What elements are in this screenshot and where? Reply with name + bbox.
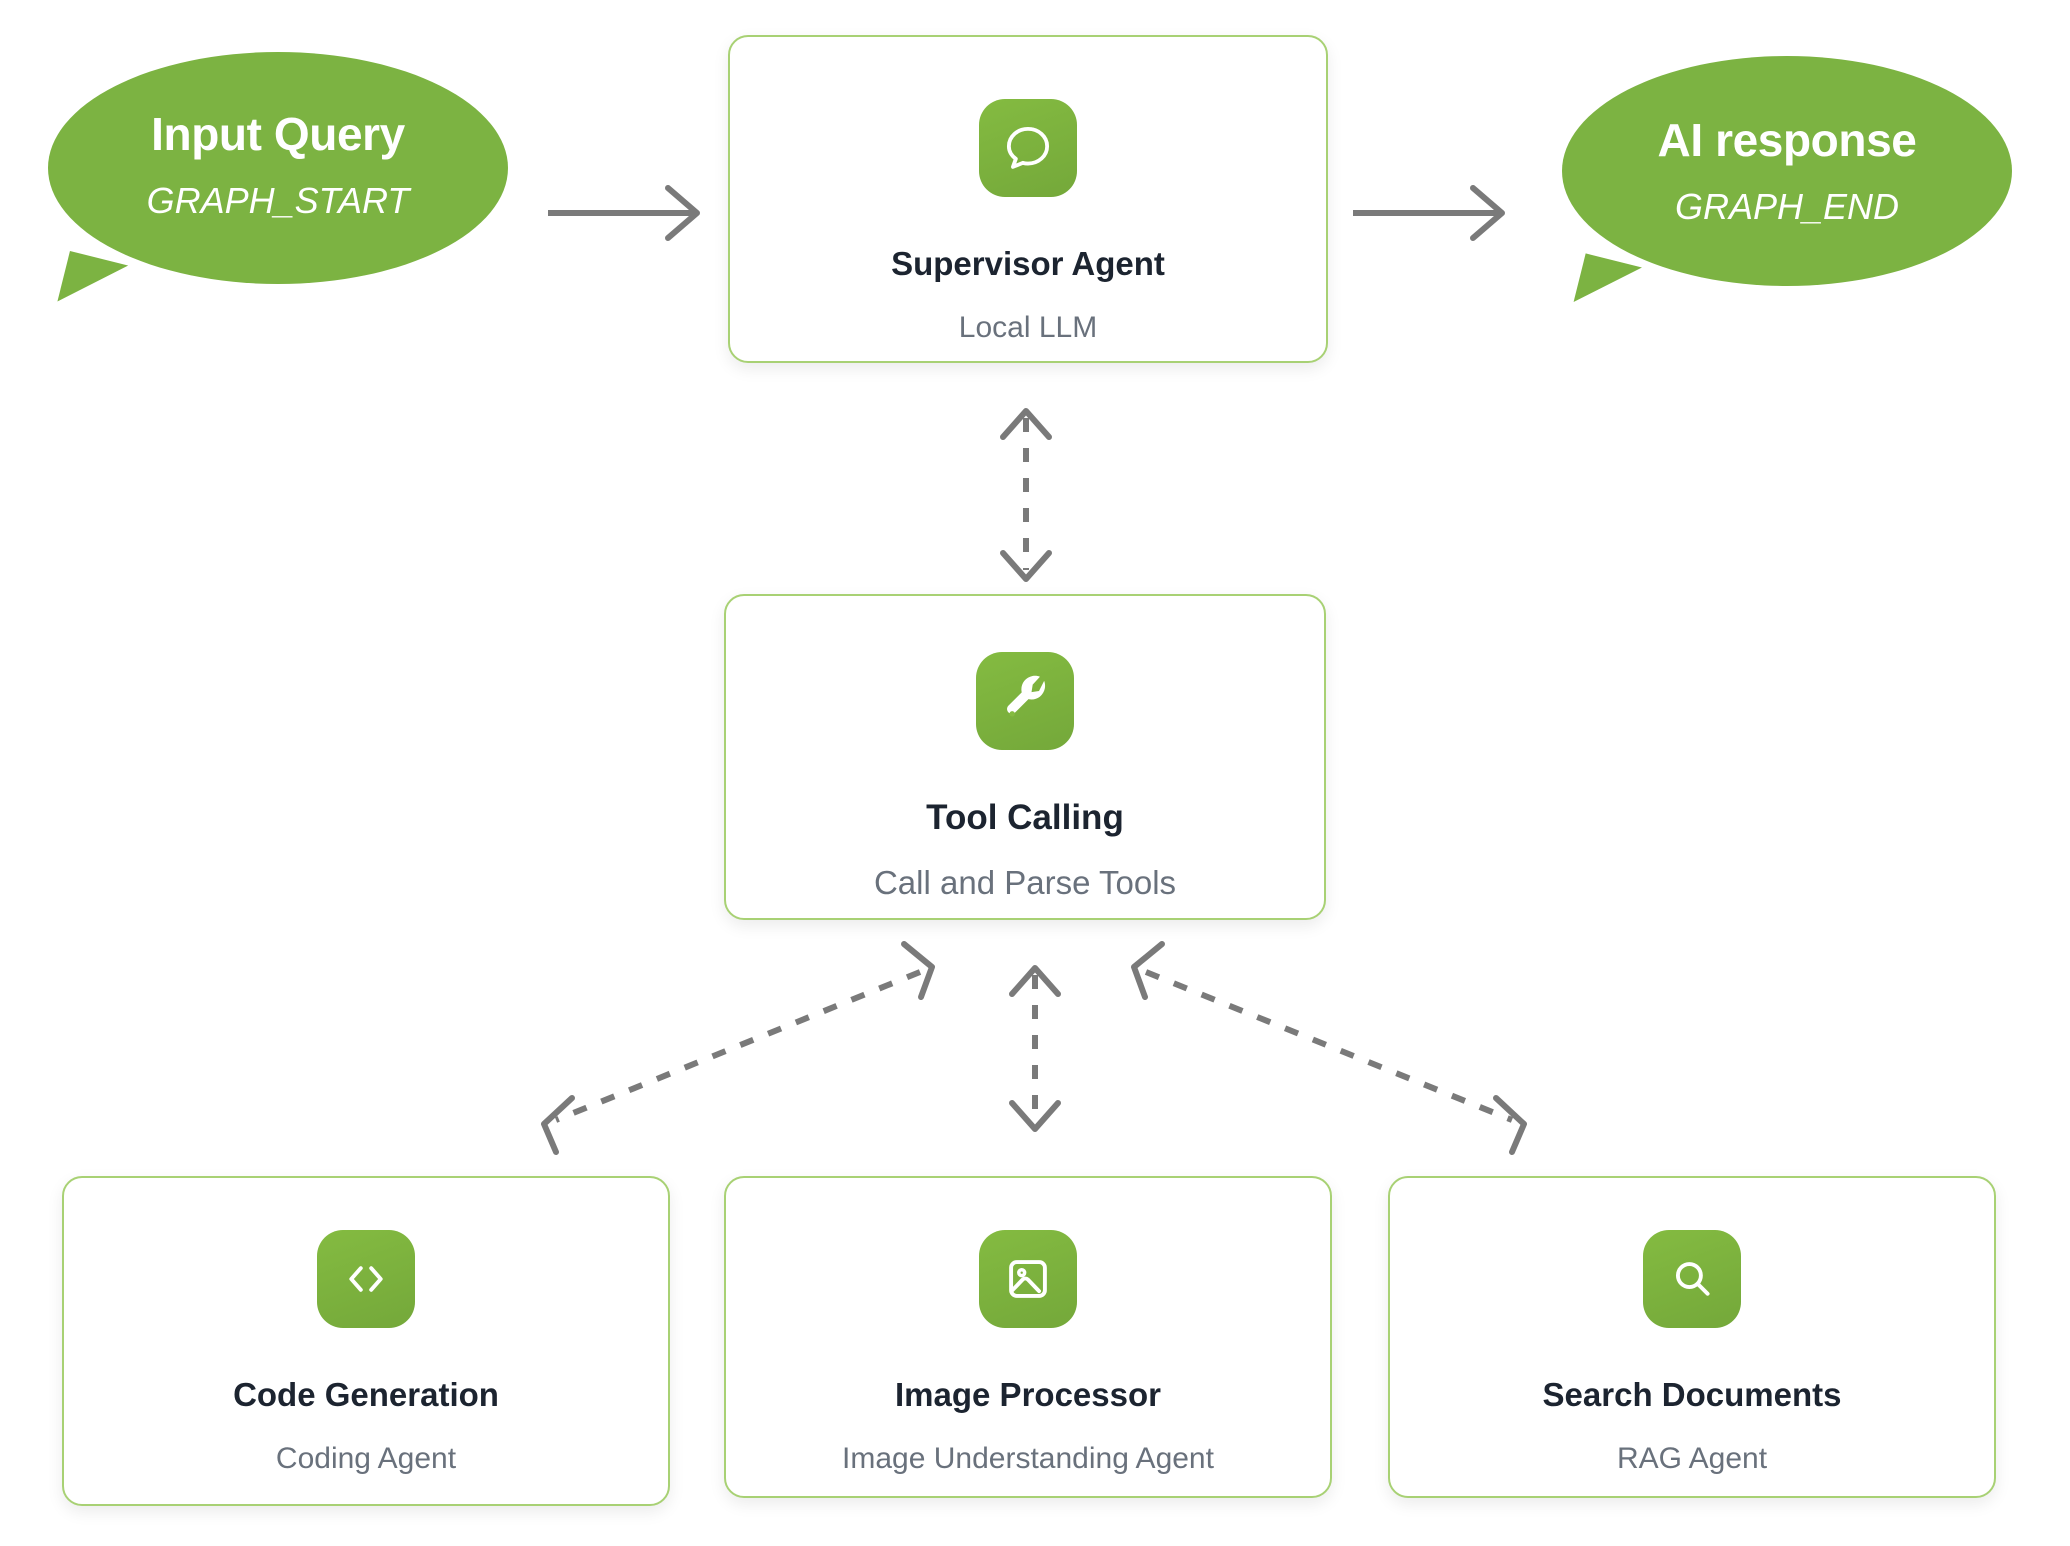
- node-search-documents-title: Search Documents: [1543, 1376, 1842, 1414]
- node-tool-calling[interactable]: Tool Calling Call and Parse Tools: [724, 594, 1326, 920]
- edge-supervisor-to-tool: [1003, 411, 1049, 579]
- node-code-generation-title: Code Generation: [233, 1376, 499, 1414]
- code-brackets-icon: [340, 1253, 392, 1305]
- node-ai-response-title: AI response: [1658, 117, 1917, 163]
- image-icon: [1002, 1253, 1054, 1305]
- node-code-generation-subtitle: Coding Agent: [276, 1442, 456, 1477]
- node-ai-response-text: AI response GRAPH_END: [1658, 117, 1917, 225]
- node-search-documents-subtitle: RAG Agent: [1617, 1442, 1767, 1477]
- node-supervisor-agent-subtitle: Local LLM: [959, 311, 1097, 346]
- node-tool-calling-title: Tool Calling: [926, 798, 1124, 838]
- node-input-query-text: Input Query GRAPH_START: [147, 111, 410, 225]
- node-input-query[interactable]: Input Query GRAPH_START: [48, 52, 508, 284]
- node-ai-response[interactable]: AI response GRAPH_END: [1562, 56, 2012, 286]
- edge-tool-to-search: [1134, 944, 1524, 1152]
- node-code-generation[interactable]: Code Generation Coding Agent: [62, 1176, 670, 1506]
- node-image-processor-subtitle: Image Understanding Agent: [842, 1442, 1214, 1477]
- node-search-documents[interactable]: Search Documents RAG Agent: [1388, 1176, 1996, 1498]
- node-input-query-subtitle: GRAPH_START: [147, 183, 410, 219]
- edge-tool-to-code: [544, 944, 932, 1152]
- code-brackets-icon-tile: [317, 1230, 415, 1328]
- node-input-query-title: Input Query: [151, 111, 405, 157]
- edge-input-to-supervisor: [548, 188, 697, 238]
- wrench-icon: [997, 673, 1053, 729]
- chat-bubble-icon: [1001, 121, 1055, 175]
- edge-tool-to-image: [1012, 968, 1058, 1129]
- node-image-processor[interactable]: Image Processor Image Understanding Agen…: [724, 1176, 1332, 1498]
- wrench-icon-tile: [976, 652, 1074, 750]
- node-supervisor-agent[interactable]: Supervisor Agent Local LLM: [728, 35, 1328, 363]
- diagram-canvas: Input Query GRAPH_START Supervisor Agent…: [0, 0, 2070, 1546]
- node-ai-response-subtitle: GRAPH_END: [1675, 189, 1899, 225]
- node-supervisor-agent-title: Supervisor Agent: [891, 245, 1165, 283]
- edge-supervisor-to-response: [1353, 188, 1502, 238]
- magnifier-icon: [1666, 1253, 1718, 1305]
- chat-bubble-icon-tile: [979, 99, 1077, 197]
- node-image-processor-title: Image Processor: [895, 1376, 1161, 1414]
- image-icon-tile: [979, 1230, 1077, 1328]
- magnifier-icon-tile: [1643, 1230, 1741, 1328]
- node-tool-calling-subtitle: Call and Parse Tools: [874, 864, 1176, 902]
